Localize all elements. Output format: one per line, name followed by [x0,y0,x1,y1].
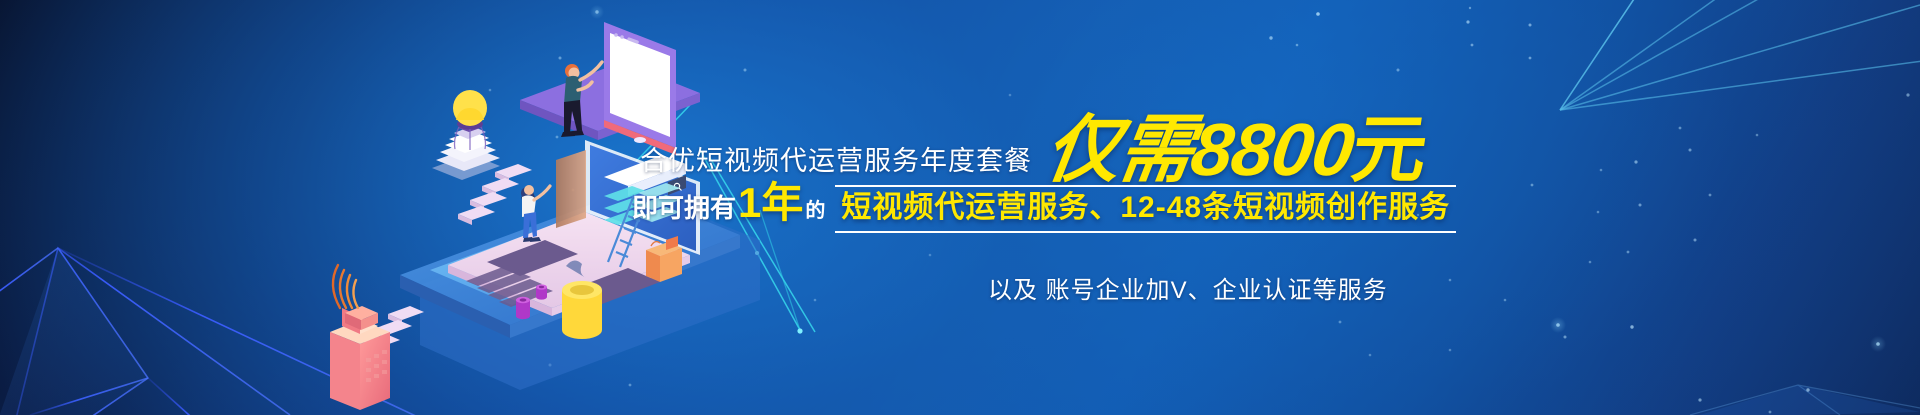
copy-block: 合优短视频代运营服务年度套餐 仅需8800元 即可拥有 1年 的 短视频代运营服… [0,0,1920,415]
subline-duration: 1年 [736,182,805,224]
subline-particle: 的 [805,194,835,223]
headline-row: 合优短视频代运营服务年度套餐 仅需8800元 [640,104,1340,184]
subline-row: 即可拥有 1年 的 短视频代运营服务、12-48条短视频创作服务 [632,182,1456,233]
price-unit: 元 [1347,108,1433,191]
subline-services: 短视频代运营服务、12-48条短视频创作服务 [835,185,1456,233]
footline: 以及 账号企业加V、企业认证等服务 [988,270,1388,305]
subline-prefix: 即可拥有 [632,188,736,225]
price-headline: 仅需8800元 [1041,116,1431,184]
promo-banner: 合优短视频代运营服务年度套餐 仅需8800元 即可拥有 1年 的 短视频代运营服… [0,0,1920,415]
headline-lead: 合优短视频代运营服务年度套餐 [640,139,1032,184]
price-amount: 仅需8800 [1040,108,1358,191]
